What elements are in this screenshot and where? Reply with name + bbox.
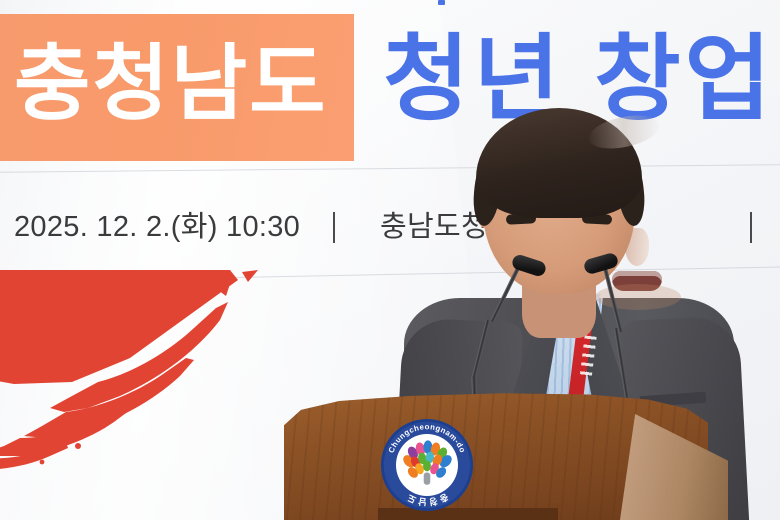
- wooden-podium: [284, 392, 708, 520]
- speaker-hair: [476, 108, 642, 218]
- event-datetime: 2025. 12. 2.(화) 10:30: [14, 206, 300, 248]
- emblem-center-pillar: [424, 473, 431, 485]
- hair-highlight: [586, 110, 663, 154]
- red-brushstroke-graphic: [0, 262, 320, 492]
- microphone-left-stem: [490, 263, 522, 322]
- microphone-left-stem-lower: [471, 320, 490, 381]
- orange-banner-block: 충청남도: [0, 14, 354, 161]
- banner-province-text: 충청남도: [14, 10, 327, 157]
- microphone-right-capsule: [583, 252, 620, 276]
- info-separator-2: [750, 212, 752, 243]
- info-separator-1: [333, 212, 335, 243]
- blue-speck-mark: [438, 0, 445, 5]
- press-conference-screenshot: 충청남도 청년 창업 2025. 12. 2.(화) 10:30 충남도청 1층…: [0, 0, 780, 520]
- microphone-left: [360, 258, 540, 408]
- chungcheongnam-do-emblem: Chungcheongnam-do 충청남도: [380, 418, 474, 512]
- microphone-right-stem: [602, 264, 623, 333]
- microphone-right: [532, 256, 662, 406]
